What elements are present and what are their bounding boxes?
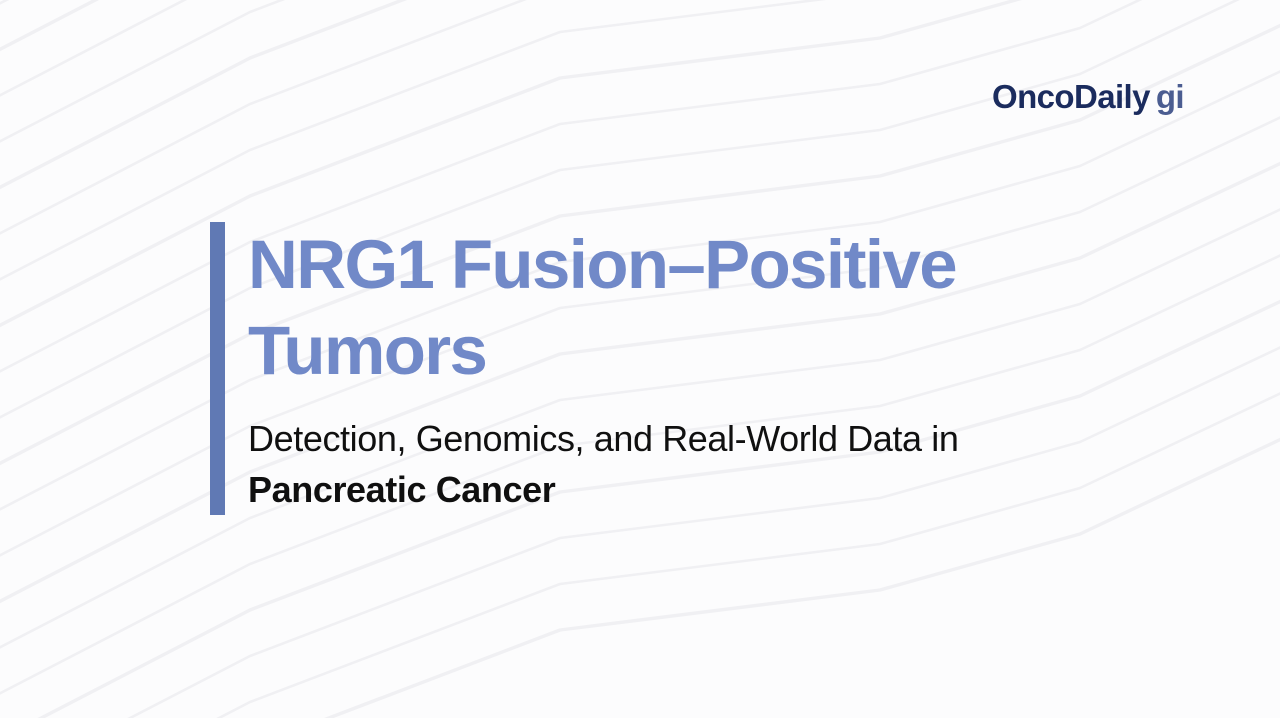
brand-logo: OncoDailygi xyxy=(992,80,1184,113)
logo-suffix-text: gi xyxy=(1156,78,1184,115)
page-title: NRG1 Fusion–Positive Tumors xyxy=(248,222,1038,393)
subtitle-emphasis: Pancreatic Cancer xyxy=(248,469,555,510)
accent-bar xyxy=(210,222,225,515)
page-subtitle: Detection, Genomics, and Real-World Data… xyxy=(248,413,1008,515)
logo-primary-text: OncoDaily xyxy=(992,78,1150,115)
title-block: NRG1 Fusion–Positive Tumors Detection, G… xyxy=(210,222,1110,515)
title-text-column: NRG1 Fusion–Positive Tumors Detection, G… xyxy=(248,222,1038,515)
slide-canvas: OncoDailygi NRG1 Fusion–Positive Tumors … xyxy=(0,0,1280,718)
subtitle-lead: Detection, Genomics, and Real-World Data… xyxy=(248,418,958,459)
